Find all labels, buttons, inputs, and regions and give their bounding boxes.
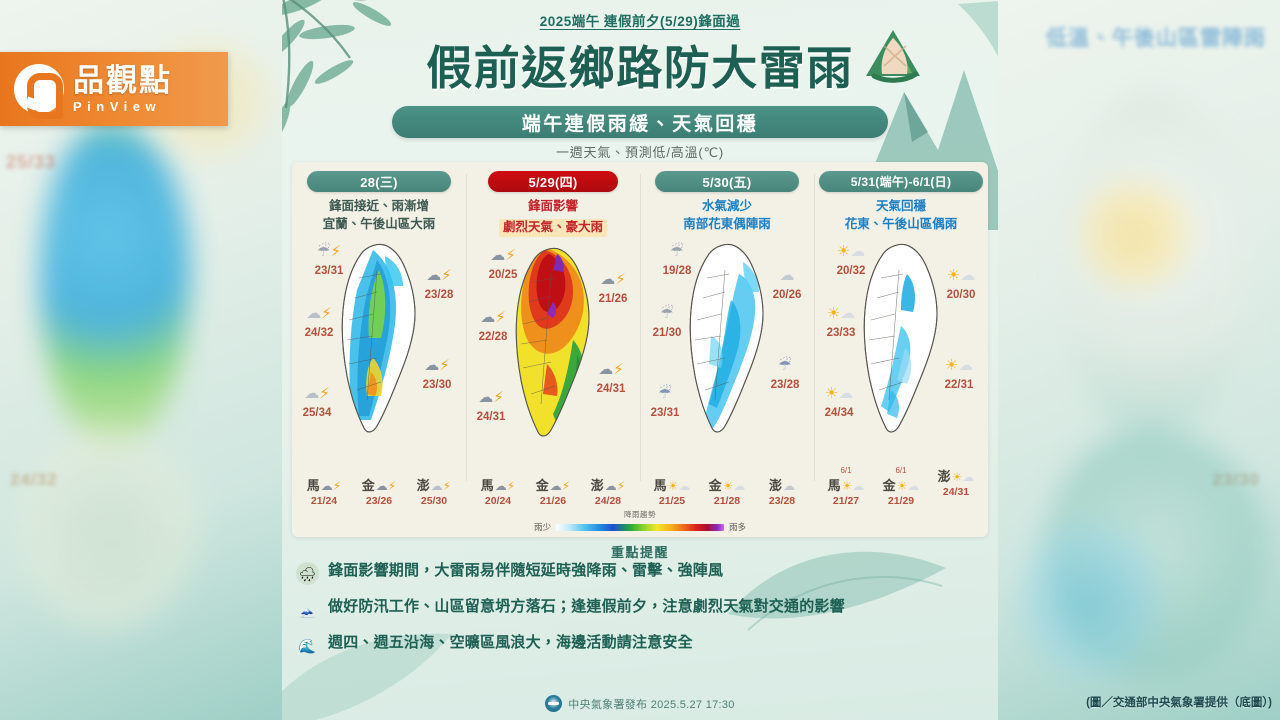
island-item: 澎☁23/28 — [758, 475, 806, 507]
sun-cloud-icon: ☀☁ — [930, 268, 992, 288]
sun-cloud-icon: ☀☁ — [723, 479, 746, 493]
island-temp: 25/30 — [410, 495, 458, 507]
temp-value: 24/31 — [477, 411, 506, 423]
island-name-row: 馬☁⚡ — [474, 475, 522, 494]
temp-value: 24/32 — [305, 327, 334, 339]
island-item: 金☁⚡23/26 — [355, 475, 403, 507]
temp-value: 25/34 — [303, 407, 332, 419]
island-name: 馬 — [481, 478, 494, 493]
poster-subtitle: 一週天氣、預測低/高溫(℃) — [282, 142, 998, 161]
thunderstorm-icon: ☁⚡ — [550, 479, 570, 493]
temp-value: 19/28 — [663, 265, 692, 277]
temp-tag-n: ☀☁20/32 — [820, 244, 882, 278]
island-name: 馬 — [828, 478, 841, 493]
thunderstorm-icon: ☁⚡ — [462, 310, 524, 330]
temp-tag-w: ☔21/30 — [636, 306, 698, 340]
temp-tag-w: ☀☁23/33 — [810, 306, 872, 340]
island-name: 金 — [883, 478, 896, 493]
thunderstorm-icon: ☁⚡ — [605, 479, 625, 493]
thunderstorm-icon: ☁⚡ — [460, 390, 522, 410]
temp-tag-ne: ☁20/26 — [756, 268, 818, 302]
background-ghost-text: 24/32 — [10, 470, 58, 490]
temp-tag-se: ☔23/28 — [754, 358, 816, 392]
sun-cloud-icon: ☀☁ — [928, 358, 990, 378]
day-description-2: 鋒面影響劇烈天氣、豪大雨 — [466, 198, 640, 238]
temp-tag-ne: ☁⚡21/26 — [582, 272, 644, 306]
island-name: 澎 — [591, 478, 604, 493]
map-area-4: ☀☁20/32☀☁20/30☀☁23/33☀☁22/31☀☁24/34 — [814, 238, 988, 438]
temp-value: 23/33 — [827, 327, 856, 339]
background-blob — [18, 430, 198, 630]
temp-value: 20/32 — [837, 265, 866, 277]
temp-value: 21/26 — [599, 293, 628, 305]
island-temp: 21/26 — [529, 495, 577, 507]
island-item: 澎☁⚡25/30 — [410, 475, 458, 507]
island-name: 澎 — [769, 478, 782, 493]
temp-value: 23/31 — [315, 265, 344, 277]
rain-thunder-icon: ☔⚡ — [298, 244, 360, 264]
cloud-icon: ☁ — [783, 479, 795, 493]
island-forecasts-1: 馬☁⚡21/24金☁⚡23/26澎☁⚡25/30 — [292, 475, 466, 507]
temp-value: 20/25 — [489, 269, 518, 281]
island-temp: 21/24 — [300, 495, 348, 507]
tip-text: 週四、週五沿海、空曠區風浪大，海邊活動請注意安全 — [328, 634, 693, 653]
temp-tag-sw: ☁⚡25/34 — [286, 386, 348, 420]
issuer-text: 中央氣象署發布 2025.5.27 17:30 — [568, 696, 734, 712]
background-blob — [40, 120, 190, 450]
day-desc-line1: 鋒面影響 — [466, 198, 640, 216]
logo-english-name: PinView — [73, 100, 172, 113]
island-name-row: 金☁⚡ — [529, 475, 577, 494]
island-temp: 21/29 — [877, 495, 925, 507]
map-area-3: ☔19/28☁20/26☔21/30☔23/28☔23/31 — [640, 238, 814, 438]
rain-warning-icon: 🌧 — [296, 562, 319, 585]
island-temp: 21/25 — [648, 495, 696, 507]
island-item: 澎☀☁24/31 — [932, 466, 980, 507]
island-name-row: 馬☀☁ — [822, 475, 870, 494]
island-name: 馬 — [307, 478, 320, 493]
rain-icon: ☔ — [634, 386, 696, 406]
temp-tag-ne: ☀☁20/30 — [930, 268, 992, 302]
pinview-logo[interactable]: 品觀點 PinView — [0, 52, 228, 126]
day-description-3: 水氣減少南部花東偶陣雨 — [640, 198, 814, 234]
temp-tag-w: ☁⚡24/32 — [288, 306, 350, 340]
temp-tag-sw: ☁⚡24/31 — [460, 390, 522, 424]
temp-value: 23/28 — [771, 379, 800, 391]
temp-value: 21/30 — [653, 327, 682, 339]
thunderstorm-icon: ☁⚡ — [495, 479, 515, 493]
island-temp: 23/26 — [355, 495, 403, 507]
island-forecasts-3: 馬☀☁21/25金☀☁21/28澎☁23/28 — [640, 475, 814, 507]
tip-item-2: 🗻做好防汛工作、山區留意坍方落石；逢連假前夕，注意劇烈天氣對交通的影響 — [296, 598, 984, 621]
background-ghost-text: 23/30 — [1212, 470, 1260, 490]
tip-item-3: 🌊週四、週五沿海、空曠區風浪大，海邊活動請注意安全 — [296, 634, 984, 657]
sun-cloud-icon: ☀☁ — [808, 386, 870, 406]
day-desc-line1: 水氣減少 — [640, 198, 814, 216]
island-item: 馬☀☁21/25 — [648, 475, 696, 507]
tips-title: 重點提醒 — [282, 542, 998, 561]
tip-text: 做好防汛工作、山區留意坍方落石；逢連假前夕，注意劇烈天氣對交通的影響 — [328, 598, 845, 617]
island-name: 金 — [536, 478, 549, 493]
background-ghost-text: 低溫、午後山區雷陣雨 — [1046, 22, 1266, 52]
day-desc-line2: 南部花東偶陣雨 — [640, 216, 814, 234]
day-description-4: 天氣回穩花東、午後山區偶雨 — [814, 198, 988, 234]
island-temp: 21/27 — [822, 495, 870, 507]
sun-cloud-icon: ☀☁ — [810, 306, 872, 326]
temp-tag-n: ☔19/28 — [646, 244, 708, 278]
day-desc-line2: 宜蘭、午後山區大雨 — [292, 216, 466, 234]
cloud-thunder-icon: ☁⚡ — [288, 306, 350, 326]
rainfall-legend: 降雨趨勢 雨少 雨多 — [292, 509, 988, 533]
legend-color-bar — [556, 524, 724, 531]
island-date: 6/1 — [822, 466, 870, 475]
legend-row: 雨少 雨多 — [292, 521, 988, 533]
legend-title: 降雨趨勢 — [292, 509, 988, 520]
island-item: 馬☁⚡20/24 — [474, 475, 522, 507]
poster-subtitle-pill: 端午連假雨緩、天氣回穩 — [392, 106, 888, 138]
day-description-1: 鋒面接近、雨漸增宜蘭、午後山區大雨 — [292, 198, 466, 234]
day-pill-3[interactable]: 5/30(五) — [655, 171, 799, 192]
pinview-logo-text: 品觀點 PinView — [73, 65, 172, 113]
island-temp: 23/28 — [758, 495, 806, 507]
landslide-icon: 🗻 — [296, 598, 319, 621]
temp-tag-se: ☀☁22/31 — [928, 358, 990, 392]
sun-cloud-icon: ☀☁ — [668, 479, 691, 493]
island-name: 金 — [362, 478, 375, 493]
temp-value: 23/28 — [425, 289, 454, 301]
temp-tag-sw: ☔23/31 — [634, 386, 696, 420]
day-pill-2[interactable]: 5/29(四) — [488, 171, 618, 192]
rain-cloud-icon: ☔ — [646, 244, 708, 264]
cwa-badge-icon — [545, 695, 562, 712]
island-forecasts-2: 馬☁⚡20/24金☁⚡21/26澎☁⚡24/28 — [466, 475, 640, 507]
sun-cloud-icon: ☀☁ — [897, 479, 920, 493]
island-item: 馬☁⚡21/24 — [300, 475, 348, 507]
pinview-mark-icon — [14, 64, 64, 114]
temp-value: 22/28 — [479, 331, 508, 343]
island-temp: 20/24 — [474, 495, 522, 507]
forecast-column-2: 5/29(四)鋒面影響劇烈天氣、豪大雨 ☁⚡20/25☁⚡21/26☁⚡22/2… — [466, 162, 640, 537]
island-name: 澎 — [938, 469, 951, 484]
sun-cloud-icon: ☀☁ — [820, 244, 882, 264]
temp-value: 23/31 — [651, 407, 680, 419]
temp-value: 20/30 — [947, 289, 976, 301]
legend-high-label: 雨多 — [729, 521, 746, 533]
island-item: 6/1馬☀☁21/27 — [822, 466, 870, 507]
island-name-row: 金☁⚡ — [355, 475, 403, 494]
tip-item-1: 🌧鋒面影響期間，大雷雨易伴隨短延時強降雨、雷擊、強陣風 — [296, 562, 984, 585]
day-desc-line1: 鋒面接近、雨漸增 — [292, 198, 466, 216]
rain-icon: ☔ — [754, 358, 816, 378]
island-temp: 21/28 — [703, 495, 751, 507]
island-name-row: 馬☁⚡ — [300, 475, 348, 494]
island-name-row: 澎☁ — [758, 475, 806, 494]
island-name: 金 — [709, 478, 722, 493]
sun-cloud-icon: ☀☁ — [952, 470, 975, 484]
temp-value: 24/34 — [825, 407, 854, 419]
island-name-row: 澎☁⚡ — [584, 475, 632, 494]
temp-tag-n: ☁⚡20/25 — [472, 248, 534, 282]
day-pill-1[interactable]: 28(三) — [307, 171, 451, 192]
temp-value: 20/26 — [773, 289, 802, 301]
island-name-row: 澎☁⚡ — [410, 475, 458, 494]
island-name-row: 馬☀☁ — [648, 475, 696, 494]
image-credit: (圖／交通部中央氣象署提供（底圖）) — [1086, 694, 1272, 710]
cloud-thunder-icon: ☁⚡ — [431, 479, 451, 493]
day-desc-line2: 劇烈天氣、豪大雨 — [499, 219, 607, 237]
legend-low-label: 雨少 — [534, 521, 551, 533]
issuer-line: 中央氣象署發布 2025.5.27 17:30 — [282, 695, 998, 712]
forecast-column-1: 28(三)鋒面接近、雨漸增宜蘭、午後山區大雨 ☔⚡23/31☁⚡23/28☁⚡2… — [292, 162, 466, 537]
background-right-panel: 低溫、午後山區雷陣雨 23/30 — [998, 0, 1280, 720]
logo-chinese-name: 品觀點 — [73, 65, 172, 96]
island-name: 馬 — [654, 478, 667, 493]
day-desc-line1: 天氣回穩 — [814, 198, 988, 216]
cloud-icon: ☁ — [756, 268, 818, 288]
weather-poster: 2025端午 連假前夕(5/29)鋒面過 假前返鄉路防大雷雨 端午連假雨緩、天氣… — [282, 0, 998, 720]
forecast-column-3: 5/30(五)水氣減少南部花東偶陣雨 ☔19/28☁20/26☔21/30☔23… — [640, 162, 814, 537]
rain-cloud-icon: ☔ — [636, 306, 698, 326]
day-desc-line2: 花東、午後山區偶雨 — [814, 216, 988, 234]
island-item: 金☀☁21/28 — [703, 475, 751, 507]
island-name-row: 金☀☁ — [703, 475, 751, 494]
temp-tag-n: ☔⚡23/31 — [298, 244, 360, 278]
forecast-card: 28(三)鋒面接近、雨漸增宜蘭、午後山區大雨 ☔⚡23/31☁⚡23/28☁⚡2… — [292, 162, 988, 537]
thunderstorm-icon: ☁⚡ — [406, 358, 468, 378]
island-name: 澎 — [417, 478, 430, 493]
zongzi-icon — [860, 26, 926, 92]
island-name-row: 澎☀☁ — [932, 466, 980, 485]
thunderstorm-icon: ☁⚡ — [321, 479, 341, 493]
forecast-column-4: 5/31(端午)-6/1(日)天氣回穩花東、午後山區偶雨 ☀☁20/32☀☁20… — [814, 162, 988, 537]
thunderstorm-icon: ☁⚡ — [582, 272, 644, 292]
map-area-1: ☔⚡23/31☁⚡23/28☁⚡24/32☁⚡23/30☁⚡25/34 — [292, 238, 466, 438]
island-forecasts-4: 6/1馬☀☁21/276/1金☀☁21/29澎☀☁24/31 — [814, 466, 988, 507]
temp-tag-ne: ☁⚡23/28 — [408, 268, 470, 302]
island-name-row: 金☀☁ — [877, 475, 925, 494]
island-date: 6/1 — [877, 466, 925, 475]
sun-cloud-icon: ☀☁ — [842, 479, 865, 493]
day-pill-4[interactable]: 5/31(端午)-6/1(日) — [819, 171, 983, 192]
background-ghost-text: 25/33 — [6, 152, 56, 173]
island-item: 6/1金☀☁21/29 — [877, 466, 925, 507]
island-temp: 24/31 — [932, 486, 980, 498]
island-item: 澎☁⚡24/28 — [584, 475, 632, 507]
tips-list: 🌧鋒面影響期間，大雷雨易伴隨短延時強降雨、雷擊、強陣風🗻做好防汛工作、山區留意坍… — [296, 562, 984, 670]
island-item: 金☁⚡21/26 — [529, 475, 577, 507]
thunderstorm-icon: ☁⚡ — [472, 248, 534, 268]
temp-value: 22/31 — [945, 379, 974, 391]
tip-text: 鋒面影響期間，大雷雨易伴隨短延時強降雨、雷擊、強陣風 — [328, 562, 723, 581]
thunderstorm-icon: ☁⚡ — [408, 268, 470, 288]
map-area-2: ☁⚡20/25☁⚡21/26☁⚡22/28☁⚡24/31☁⚡24/31 — [466, 242, 640, 442]
cloud-thunder-icon: ☁⚡ — [286, 386, 348, 406]
temp-value: 23/30 — [423, 379, 452, 391]
thunderstorm-icon: ☁⚡ — [376, 479, 396, 493]
island-temp: 24/28 — [584, 495, 632, 507]
wave-icon: 🌊 — [296, 634, 319, 657]
forecast-columns: 28(三)鋒面接近、雨漸增宜蘭、午後山區大雨 ☔⚡23/31☁⚡23/28☁⚡2… — [292, 162, 988, 537]
thunderstorm-icon: ☁⚡ — [580, 362, 642, 382]
temp-tag-se: ☁⚡23/30 — [406, 358, 468, 392]
temp-tag-se: ☁⚡24/31 — [580, 362, 642, 396]
temp-tag-w: ☁⚡22/28 — [462, 310, 524, 344]
temp-tag-sw: ☀☁24/34 — [808, 386, 870, 420]
temp-value: 24/31 — [597, 383, 626, 395]
